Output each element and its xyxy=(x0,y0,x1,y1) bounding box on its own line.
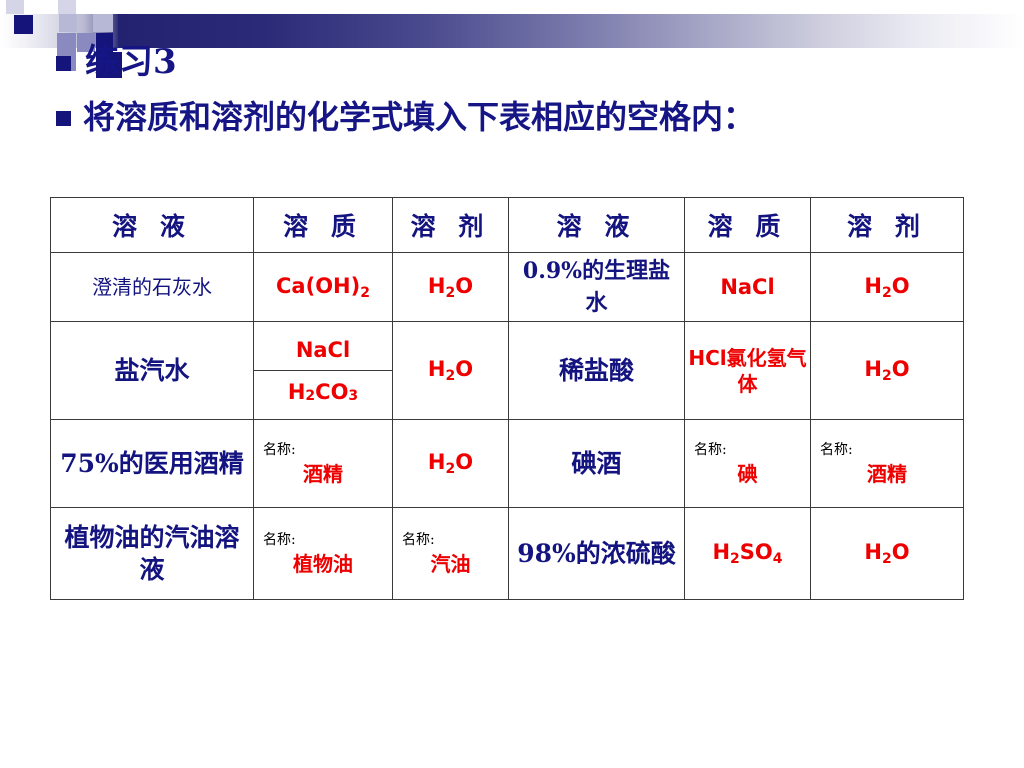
name-label: 名称: xyxy=(814,441,960,459)
cell-solution: 盐汽水 xyxy=(51,322,254,420)
decor-square-dark-1 xyxy=(14,15,33,34)
decor-square-3 xyxy=(59,14,77,32)
column-header-solvent-left: 溶 剂 xyxy=(393,198,509,253)
cell-solvent: H2O xyxy=(811,253,964,322)
instruction-text: 将溶质和溶剂的化学式填入下表相应的空格内： xyxy=(83,96,755,138)
name-value: 酒精 xyxy=(814,459,960,487)
name-value: 碘 xyxy=(688,459,807,487)
exercise-table: 溶 液 溶 质 溶 剂 溶 液 溶 质 溶 剂 澄清的石灰水 Ca(OH)2 H… xyxy=(50,197,964,600)
decor-square-4 xyxy=(93,14,113,32)
table-row: 75%的医用酒精 名称: 酒精 H2O 碘酒 名称: 碘 名称: 酒精 xyxy=(51,420,964,508)
cell-solution: 植物油的汽油溶液 xyxy=(51,508,254,600)
cell-solution: 98%的浓硫酸 xyxy=(509,508,685,600)
column-header-solution-right: 溶 液 xyxy=(509,198,685,253)
slide-title-block: 练习3 将溶质和溶剂的化学式填入下表相应的空格内： xyxy=(56,40,996,138)
cell-solution: 澄清的石灰水 xyxy=(51,253,254,322)
table-header-row: 溶 液 溶 质 溶 剂 溶 液 溶 质 溶 剂 xyxy=(51,198,964,253)
cell-solute: NaCl xyxy=(685,253,811,322)
title-bullet-line-2: 将溶质和溶剂的化学式填入下表相应的空格内： xyxy=(56,96,996,138)
title-bullet-line-1: 练习3 xyxy=(56,40,996,84)
name-value: 植物油 xyxy=(257,549,389,577)
name-value: 汽油 xyxy=(396,549,505,577)
name-label: 名称: xyxy=(257,531,389,549)
cell-solute: Ca(OH)2 xyxy=(254,253,393,322)
cell-solvent: 名称: 汽油 xyxy=(393,508,509,600)
bullet-square-icon xyxy=(56,111,71,126)
cell-solute: 名称: 碘 xyxy=(685,420,811,508)
cell-solution: 碘酒 xyxy=(509,420,685,508)
cell-solute-split: NaCl H2CO3 xyxy=(254,322,393,420)
cell-solution: 75%的医用酒精 xyxy=(51,420,254,508)
cell-solute: 名称: 酒精 xyxy=(254,420,393,508)
cell-solvent: 名称: 酒精 xyxy=(811,420,964,508)
table-row: 植物油的汽油溶液 名称: 植物油 名称: 汽油 98%的浓硫酸 H2SO4 H2… xyxy=(51,508,964,600)
cell-solute-part-1: NaCl xyxy=(254,329,392,371)
column-header-solvent-right: 溶 剂 xyxy=(811,198,964,253)
cell-solute-part-2: H2CO3 xyxy=(254,371,392,412)
name-value: 酒精 xyxy=(257,459,389,487)
column-header-solute-right: 溶 质 xyxy=(685,198,811,253)
cell-solvent: H2O xyxy=(393,420,509,508)
table-row: 澄清的石灰水 Ca(OH)2 H2O 0.9%的生理盐水 NaCl H2O xyxy=(51,253,964,322)
name-label: 名称: xyxy=(396,531,505,549)
bullet-square-icon xyxy=(56,56,71,71)
name-label: 名称: xyxy=(688,441,807,459)
table-row: 盐汽水 NaCl H2CO3 H2O 稀盐酸 HCl氯化氢气体 H2O xyxy=(51,322,964,420)
cell-solution: 稀盐酸 xyxy=(509,322,685,420)
name-label: 名称: xyxy=(257,441,389,459)
cell-solvent: H2O xyxy=(393,253,509,322)
decor-square-2 xyxy=(58,0,76,14)
column-header-solute-left: 溶 质 xyxy=(254,198,393,253)
cell-solute: H2SO4 xyxy=(685,508,811,600)
cell-solution: 0.9%的生理盐水 xyxy=(509,253,685,322)
cell-solute: 名称: 植物油 xyxy=(254,508,393,600)
cell-solvent: H2O xyxy=(393,322,509,420)
column-header-solution-left: 溶 液 xyxy=(51,198,254,253)
page-title: 练习3 xyxy=(85,40,177,84)
cell-solvent: H2O xyxy=(811,322,964,420)
cell-solvent: H2O xyxy=(811,508,964,600)
decor-square-1 xyxy=(6,0,24,14)
cell-solute: HCl氯化氢气体 xyxy=(685,322,811,420)
